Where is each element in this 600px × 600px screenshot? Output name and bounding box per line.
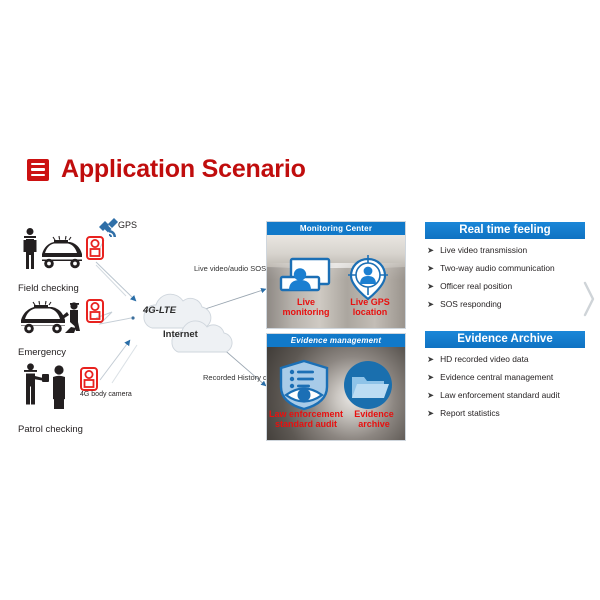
panel-header: Monitoring Center bbox=[267, 222, 405, 235]
panel-monitoring-center[interactable]: Monitoring Center Live monitoring Live G… bbox=[266, 221, 406, 329]
panel-evidence-management[interactable]: Evidence management Law enforcement bbox=[266, 333, 406, 441]
body-camera-icon bbox=[86, 236, 104, 260]
actor-emergency: Emergency bbox=[18, 296, 113, 358]
list-item-label: Report statistics bbox=[440, 408, 500, 419]
actor-label: Patrol checking bbox=[18, 424, 128, 435]
slide-canvas: Application Scenario bbox=[0, 0, 600, 600]
folder-circle-icon bbox=[343, 360, 393, 410]
actor-field-checking: Field checking bbox=[18, 228, 113, 294]
panel-image: Live monitoring Live GPS location bbox=[267, 235, 405, 328]
panel-image: Law enforcement standard audit Evidence … bbox=[267, 347, 405, 440]
list-item-label: Evidence central management bbox=[440, 372, 553, 383]
card-real-time-feeling: Real time feeling ➤ Live video transmiss… bbox=[425, 222, 585, 318]
cloud-label-4g-lte: 4G-LTE bbox=[143, 305, 176, 316]
chevron-bullet-icon: ➤ bbox=[427, 372, 434, 383]
chevron-bullet-icon: ➤ bbox=[427, 408, 434, 419]
chevron-bullet-icon: ➤ bbox=[427, 263, 434, 274]
panel-caption: Live monitoring bbox=[275, 297, 337, 318]
list-item-label: SOS responding bbox=[440, 299, 501, 310]
card-bullet-list: ➤ HD recorded video data ➤ Evidence cent… bbox=[425, 354, 585, 419]
chevron-bullet-icon: ➤ bbox=[427, 299, 434, 310]
panel-caption: Live GPS location bbox=[339, 297, 401, 318]
card-evidence-archive: Evidence Archive ➤ HD recorded video dat… bbox=[425, 331, 585, 427]
chevron-bullet-icon: ➤ bbox=[427, 390, 434, 401]
panel-caption: Law enforcement standard audit bbox=[268, 409, 344, 430]
list-item[interactable]: ➤ Two-way audio communication bbox=[425, 263, 585, 274]
card-header: Evidence Archive bbox=[425, 331, 585, 348]
page-title-text: Application Scenario bbox=[61, 155, 306, 184]
actor-patrol-checking: 4G body camera Patrol checking bbox=[18, 363, 128, 435]
chevron-bullet-icon: ➤ bbox=[427, 245, 434, 256]
panel-header: Evidence management bbox=[267, 334, 405, 347]
officer-with-patrol-car-icon bbox=[18, 228, 90, 274]
list-item[interactable]: ➤ Live video transmission bbox=[425, 245, 585, 256]
body-camera-icon bbox=[86, 299, 104, 323]
actor-label: Field checking bbox=[18, 283, 113, 294]
chevron-bullet-icon: ➤ bbox=[427, 354, 434, 365]
body-camera-icon bbox=[80, 367, 98, 391]
gps-pin-person-icon bbox=[345, 253, 391, 303]
bodycam-label: 4G body camera bbox=[80, 391, 132, 398]
list-item-label: Law enforcement standard audit bbox=[440, 390, 560, 401]
officer-checking-person-icon bbox=[18, 363, 78, 411]
list-item[interactable]: ➤ Officer real position bbox=[425, 281, 585, 292]
network-cloud-icon bbox=[128, 290, 248, 360]
list-icon bbox=[27, 159, 49, 181]
list-item[interactable]: ➤ Evidence central management bbox=[425, 372, 585, 383]
list-item[interactable]: ➤ HD recorded video data bbox=[425, 354, 585, 365]
list-item-label: HD recorded video data bbox=[440, 354, 528, 365]
list-item[interactable]: ➤ Report statistics bbox=[425, 408, 585, 419]
card-header: Real time feeling bbox=[425, 222, 585, 239]
chevron-bullet-icon: ➤ bbox=[427, 281, 434, 292]
monitor-person-icon bbox=[279, 257, 335, 299]
shield-eye-checklist-icon bbox=[277, 359, 331, 411]
actor-label: Emergency bbox=[18, 347, 113, 358]
list-item[interactable]: ➤ SOS responding bbox=[425, 299, 585, 310]
page-title: Application Scenario bbox=[27, 155, 306, 184]
panel-caption: Evidence archive bbox=[345, 409, 403, 430]
card-bullet-list: ➤ Live video transmission ➤ Two-way audi… bbox=[425, 245, 585, 310]
gps-label: GPS bbox=[118, 220, 137, 230]
list-item[interactable]: ➤ Law enforcement standard audit bbox=[425, 390, 585, 401]
officer-behind-car-icon bbox=[18, 296, 90, 340]
list-item-label: Live video transmission bbox=[440, 245, 527, 256]
list-item-label: Two-way audio communication bbox=[440, 263, 555, 274]
cloud-label-internet: Internet bbox=[163, 329, 198, 340]
list-item-label: Officer real position bbox=[440, 281, 512, 292]
